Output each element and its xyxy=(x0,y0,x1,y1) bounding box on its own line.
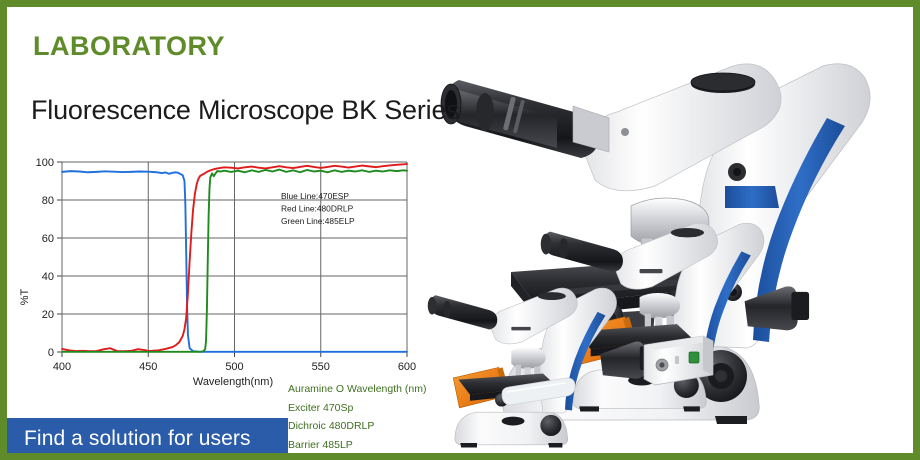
chart-y-tick: 0 xyxy=(48,347,54,359)
product-photo xyxy=(403,0,920,460)
chart-y-axis-label: %T xyxy=(19,288,31,305)
chart-y-tick: 100 xyxy=(36,157,54,169)
chart-legend-entry: Green Line:485ELP xyxy=(281,216,355,226)
chart-x-tick: 550 xyxy=(312,361,330,373)
page-title: Fluorescence Microscope BK Series xyxy=(31,95,460,126)
chart-y-tick: 20 xyxy=(42,309,54,321)
spec-line-dichroic: Dichroic 480DRLP xyxy=(288,417,473,436)
chart-y-tick: 60 xyxy=(42,233,54,245)
transmission-chart-svg: 020406080100 400450500550600 Blue Line:4… xyxy=(15,147,425,392)
laboratory-banner: LABORATORY Fluorescence Microscope BK Se… xyxy=(0,0,920,460)
spec-line-wavelength: Auramine O Wavelength (nm) xyxy=(288,380,473,399)
cta-label: Find a solution for users xyxy=(7,427,251,451)
chart-x-axis-ticks: 400450500550600 xyxy=(53,361,416,373)
kicker-label: LABORATORY xyxy=(33,31,225,62)
spec-line-barrier: Barrier 485LP xyxy=(288,436,473,455)
chart-x-tick: 450 xyxy=(139,361,157,373)
transmission-chart: 020406080100 400450500550600 Blue Line:4… xyxy=(15,147,425,392)
chart-x-tick: 500 xyxy=(225,361,243,373)
chart-y-tick: 40 xyxy=(42,271,54,283)
chart-y-tick: 80 xyxy=(42,195,54,207)
chart-y-axis-ticks: 020406080100 xyxy=(36,157,54,359)
chart-gridlines xyxy=(57,162,407,357)
filter-spec-list: Auramine O Wavelength (nm) Exciter 470Sp… xyxy=(288,380,473,454)
cta-bar[interactable]: Find a solution for users xyxy=(7,418,288,460)
chart-x-tick: 600 xyxy=(398,361,416,373)
chart-legend-entry: Blue Line:470ESP xyxy=(281,191,349,201)
chart-x-tick: 400 xyxy=(53,361,71,373)
chart-legend-entry: Red Line:480DRLP xyxy=(281,204,354,214)
spec-line-exciter: Exciter 470Sp xyxy=(288,399,473,418)
chart-x-axis-label: Wavelength(nm) xyxy=(193,376,273,388)
chart-legend: Blue Line:470ESPRed Line:480DRLPGreen Li… xyxy=(281,191,355,226)
